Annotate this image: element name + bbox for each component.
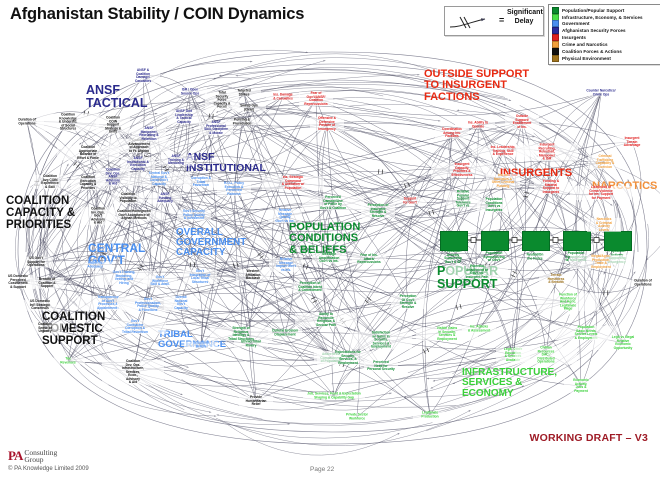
variable-node: Relative Popular Support Tolerance Gov't… [446,190,480,208]
variable-node: Terrain Harshness & Breadth [539,274,573,285]
legend-row: Coalition Forces & Actions [552,48,660,54]
legend-row: Government [552,21,660,27]
variable-node: Authority Adequacy [78,262,112,269]
variable-node: Provide Humanitarian Relief [239,396,273,407]
variable-node: ANSF Training & Mentoring [159,155,193,166]
variable-node: Coalition Sense of Urgency [28,323,62,334]
legend-row: Population/Popular Support [552,7,660,13]
variable-node: Western Affiliation Backlash [236,270,270,281]
section-heading: COALITION CAPACITY & PRIORITIES [6,196,75,232]
variable-node: Likelihood of Crime/Violence for Ins. Su… [570,186,632,200]
population-stock-label: Neutral/On the Fence [518,254,552,261]
variable-node: Gov't Security Policy Quality & Investme… [177,210,211,221]
variable-node: Insurgent Capacity, Priorities & Effecti… [431,163,493,177]
variable-node: Coalition Advancement of Approach to Ft.… [108,139,170,153]
legend-label: Insurgents [562,35,586,40]
variable-node: Ins. Attacks & Assessment [462,326,496,333]
variable-node: Relative Message Impact Gov't vs Ins. [269,258,303,272]
variable-node: Ability to Reconcile Religious & Secular… [295,313,357,327]
legend-label: Government [562,21,590,26]
variable-node: Outside Support/ Enablement of Ins. [505,115,539,129]
delay-legend: = Significant Delay [444,6,544,36]
variable-node: ANSF Funding Adequacy [148,193,182,204]
variable-node: Gov't Contractor Corruption & Tribal Fav… [104,320,166,334]
legend-row: Physical Environment [552,55,660,61]
variable-node: ANSF Manpower, Recruiting & Retention [132,127,166,141]
variable-node: Coordination Among Ins. Factions [435,128,469,139]
legend-label: Infrastructure, Economy, & Services [562,15,643,20]
variable-node: Ins. Ability to Operate [461,122,495,129]
population-stock-box [604,231,632,251]
legend-label: Population/Popular Support [562,8,624,13]
variable-node: Relative Message Quality Gov't vs Ins. [268,209,302,223]
variable-node: Fear of Ins. Attack/ Repercussions [352,254,386,265]
population-stock-box [522,231,550,251]
variable-node: US Domestic Perceived Cost/Benefit & Sup… [1,275,35,289]
legend-row: Infrastructure, Economy, & Services [552,14,660,20]
legend-row: Crime and Narcotics [552,41,660,47]
legend-label: Crime and Narcotics [562,42,608,47]
variable-node: Civilian Resources DAC / Distributed Ope… [515,346,577,364]
variable-node: Perception of Coalition Intent & Commitm… [293,282,327,293]
variable-node: Population Conditions Gov't vs Insurgent… [477,198,511,212]
variable-node: Job, Services, Food & Expectation Shapin… [303,393,365,400]
delay-equals: = [499,15,504,25]
variable-node: Perception Of Gov't Strength & Resolve [391,295,425,309]
variable-node: US Domestic Int'l Strategic Consensus [23,300,57,311]
legend-row: Afghanistan Security Forces [552,28,660,34]
variable-node: Sweep Ops (Clear) [232,105,266,112]
variable-node: Insurgent Recruiting, Retention, Manpowe… [516,143,578,161]
variable-node: Ins. to Narcotics & Other Criminal Fundi… [486,174,520,188]
variable-node: Coalition Dev. Ops. Infrastructure, Serv… [102,360,164,385]
variable-node: Corruption & Tribal Favoritism [184,177,218,188]
variable-node: Private Sector Workforce [340,414,374,421]
variable-node: ANSF & Coalition Damage/ Casualties [126,69,160,83]
variable-node: Tax Revenues [51,358,85,365]
population-stock-box [563,231,591,251]
variable-node: Breadth of Coalition & Support [30,278,64,289]
variable-node: Narcotics & Criminal Activity Levels [587,218,621,232]
variable-node: Perceived Damage/Use of Force by Gov't &… [302,196,364,210]
variable-node: Counter Narcotics/ Crime Ops [584,90,618,97]
variable-node: ISR / Open Source Ops [173,89,207,96]
copyright-notice: © PA Knowledge Limited 2009 [8,466,89,472]
variable-node: ANSF Professional Skill, Discipline & Mo… [199,121,233,135]
pa-consulting-logo: PAConsulting Group [8,448,57,467]
variable-node: Illegal/Agric. Production, Trade & Emplo… [570,255,632,269]
variable-node: Coalition Visibility to Population [111,193,145,204]
section-heading: ANSF INSTITUTIONAL [186,152,266,174]
legend-label: Coalition Forces & Actions [562,49,622,54]
section-heading: OUTSIDE SUPPORT TO INSURGENT FACTIONS [424,69,529,103]
variable-node: Offensive & Defensive Posture of Insurge… [310,117,344,131]
variable-node: Message Amplification Gov't vs Ins. [312,253,346,264]
legend-label: Afghanistan Security Forces [562,28,626,33]
variable-node: Targeted Strikes [227,90,261,97]
variable-node: Perceived Need for Personal Security [364,361,398,372]
working-draft-label: WORKING DRAFT – V3 [529,432,648,444]
variable-node: Coalition Knowledge & Understd. of Socia… [37,113,99,131]
variable-node: Coalition Avg COIN Experience & Skill [33,175,67,189]
variable-node: Overall National Gov't Capacity [164,296,198,310]
legend-label: Physical Environment [562,56,611,61]
legend-row: Insurgents [552,35,660,41]
variable-node: Structural Beliefs [184,342,218,349]
variable-node: Insurgent Terrain Advantage [615,137,649,148]
section-heading: ANSF TACTICAL [86,84,148,110]
variable-node: Criminal Trafficking Capability & Coerci… [588,155,622,169]
variable-node: Support for Gov't [393,198,427,205]
page-title: Afghanistan Stability / COIN Dynamics [10,5,304,24]
variable-node: Coalition Inv. Ops. Gov't Advisory & Aid [81,207,115,225]
variable-node: Economic Activity, Jobs & Payment [564,379,598,393]
section-heading: OVERALL GOVERNMENT CAPACITY [176,228,246,259]
variable-node: Funding & Material Support to Insurgents [534,180,568,194]
population-stock-box [440,231,468,251]
variable-node: Cultural Erosion/ Displacement [268,330,302,337]
pa-logo-text: Consulting Group [22,448,57,464]
variable-node: ANSF Unit Leadership & Tactical Capacity [167,110,201,124]
variable-node: Potential Attachment of Gov't vs. Insurg… [446,265,508,279]
section-heading: INFRASTRUCTURE, SERVICES & ECONOMY [462,368,557,399]
variable-node: Duration of Operations [626,280,660,287]
population-stock-box [481,231,509,251]
pa-logo-mark: PA [8,448,22,464]
variable-node: Coalition COIN Support Strategy & Unity [96,116,130,134]
variable-node: Coalition Dev. Ops. ANSF Advisory & Aid [96,168,130,186]
variable-node: Perception of Insurgent Strength & Resol… [361,204,395,218]
variable-node: Gov't Integration of Local Tribal Struct… [183,270,217,284]
diagram-canvas: Afghanistan Stability / COIN Dynamics = … [0,0,660,481]
variable-node: Fear of Gov't/ANSF/ Coalition Repercussi… [299,92,333,106]
variable-node: Gov't Workforce Skill & Avail. [143,276,177,287]
variable-node: Ins. Damage & Casualties [266,94,300,101]
page-number: Page 22 [310,466,334,473]
variable-node: Ins. Strategic Command & Affiliation w/ … [262,176,324,190]
variable-node: US Gov't Support for Operations [19,257,53,268]
variable-node: Legitimate Production [413,412,447,419]
category-legend: Population/Popular SupportInfrastructure… [548,4,660,65]
delay-label: Significant Delay [507,9,541,26]
population-stock-label: Population Sympathizing w/ Gov't [477,252,511,263]
variable-node: Satisfaction w/ Gains in Security, Servi… [350,331,412,349]
variable-node: Central Gov't National & Local Gov't Cap… [128,172,190,186]
variable-node: Ethnic/Tribal Rivalry [234,341,268,348]
delay-hash-icon [447,8,499,34]
variable-node: Legit vs Illegal Relative Economic Oppor… [592,336,654,350]
variable-node: Function of Workforce And Agric. Legitim… [537,293,599,311]
population-stock-label: Population Actively Supporting Gov't & S… [436,250,470,264]
variable-node: R.O.L. Policy Execution & Perceived Fair… [217,182,251,196]
legend-swatch-icon [552,55,559,62]
